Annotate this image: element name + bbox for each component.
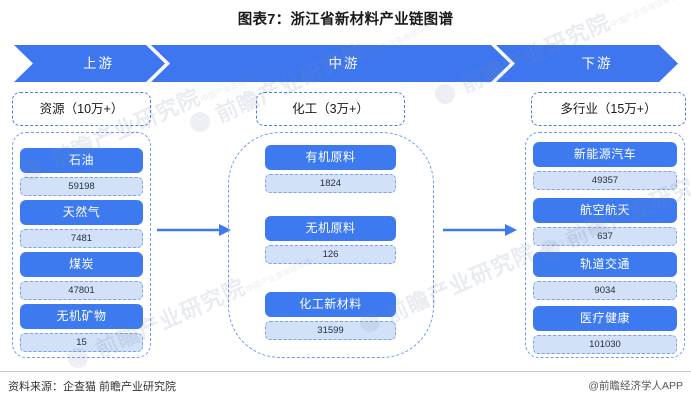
- item-pill[interactable]: 轨道交通: [533, 252, 677, 277]
- column-head-downstream: 多行业（15万+）: [531, 92, 686, 126]
- stage-banner: 上游 中游 下游: [14, 45, 678, 82]
- item-value: 15: [20, 333, 143, 352]
- item-value: 31599: [265, 321, 396, 340]
- flow-arrow-upstream-to-midstream: [157, 222, 231, 243]
- item-pill[interactable]: 化工新材料: [265, 292, 396, 317]
- item-value: 7481: [20, 229, 143, 248]
- item-value: 9034: [533, 281, 677, 300]
- item-value: 59198: [20, 177, 143, 196]
- watermark-logo-icon: [190, 112, 210, 132]
- stage-label-downstream: 下游: [522, 45, 672, 82]
- stage-label-midstream: 中游: [174, 45, 514, 82]
- item-pill[interactable]: 新能源汽车: [533, 142, 677, 167]
- column-head-midstream: 化工（3万+）: [256, 92, 405, 126]
- flow-arrow-midstream-to-downstream: [443, 222, 517, 243]
- item-pill[interactable]: 无机矿物: [20, 304, 143, 329]
- item-value: 49357: [533, 171, 677, 190]
- item-value: 637: [533, 227, 677, 246]
- watermark-logo-icon: [435, 84, 455, 104]
- item-pill[interactable]: 天然气: [20, 200, 143, 225]
- item-pill[interactable]: 煤炭: [20, 252, 143, 277]
- footer-divider: [0, 371, 691, 372]
- item-value: 126: [265, 245, 396, 264]
- item-value: 101030: [533, 335, 677, 354]
- column-head-upstream: 资源（10万+）: [12, 92, 151, 126]
- item-pill[interactable]: 有机原料: [265, 145, 396, 170]
- item-value: 1824: [265, 174, 396, 193]
- page-title: 图表7：浙江省新材料产业链图谱: [0, 8, 691, 29]
- item-value: 47801: [20, 281, 143, 300]
- item-pill[interactable]: 石油: [20, 148, 143, 173]
- stage-label-upstream: 上游: [36, 45, 161, 82]
- source-note: 资料来源：企查猫 前瞻产业研究院: [8, 378, 176, 394]
- item-pill[interactable]: 航空航天: [533, 198, 677, 223]
- item-pill[interactable]: 无机原料: [265, 216, 396, 241]
- brand-watermark: @前瞻经济学人APP: [588, 378, 683, 393]
- item-pill[interactable]: 医疗健康: [533, 306, 677, 331]
